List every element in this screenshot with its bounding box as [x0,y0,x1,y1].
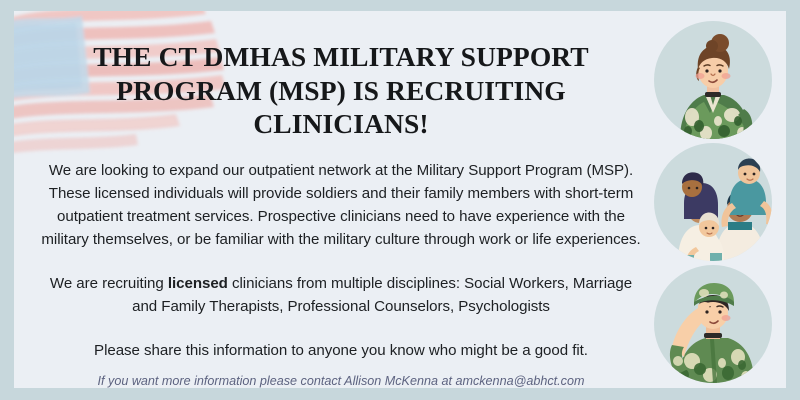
saluting-soldier-illustration [654,265,772,383]
poster-content: THE CT DMHAS MILITARY SUPPORT PROGRAM (M… [14,11,662,388]
illustration-column [650,11,778,388]
family-group-icon [654,143,772,261]
page-title: THE CT DMHAS MILITARY SUPPORT PROGRAM (M… [38,11,644,141]
paragraph-disciplines: We are recruiting licensed clinicians fr… [38,272,644,318]
paragraph-share: Please share this information to anyone … [38,339,644,362]
poster-panel: THE CT DMHAS MILITARY SUPPORT PROGRAM (M… [14,11,786,388]
disciplines-text-before: We are recruiting [50,275,168,292]
saluting-soldier-icon [654,265,772,383]
contact-note: If you want more information please cont… [38,373,644,388]
female-soldier-illustration [654,21,772,139]
military-family-illustration [654,143,772,261]
licensed-emphasis: licensed [168,275,228,292]
poster-root: THE CT DMHAS MILITARY SUPPORT PROGRAM (M… [0,0,800,400]
poster-body: We are looking to expand our outpatient … [38,141,644,363]
female-soldier-icon [654,21,772,139]
paragraph-overview: We are looking to expand our outpatient … [38,159,644,251]
